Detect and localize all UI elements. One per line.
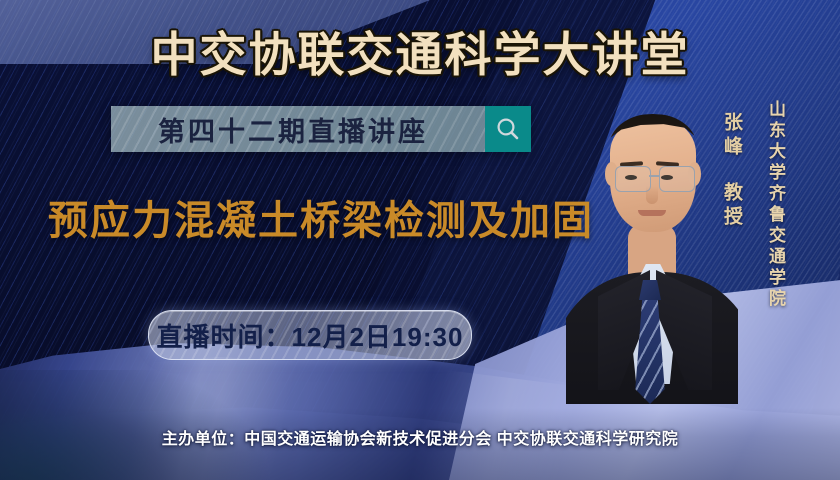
search-icon: [495, 116, 521, 142]
organizer-line: 主办单位：中国交通运输协会新技术促进分会 中交协联交通科学研究院: [0, 425, 840, 449]
portrait-mouth: [638, 210, 666, 216]
livestream-poster: 中交协联交通科学大讲堂 第四十二期直播讲座 预应力混凝土桥梁检测及加固 直播时间…: [0, 0, 840, 480]
live-time-badge: 直播时间：12月2日19:30: [148, 310, 472, 360]
live-time-label: 直播时间：12月2日19:30: [157, 317, 464, 354]
speaker-name: 张峰: [713, 112, 743, 160]
page-title: 中交协联交通科学大讲堂: [0, 16, 840, 85]
glasses-lens-right: [659, 166, 695, 192]
glasses-bridge: [649, 175, 659, 177]
episode-banner: 第四十二期直播讲座: [111, 106, 531, 152]
lecture-title: 预应力混凝土桥梁检测及加固: [48, 188, 594, 246]
speaker-title: 教授: [713, 182, 743, 230]
search-icon-tile[interactable]: [485, 106, 531, 152]
portrait-nose: [646, 186, 658, 204]
episode-label: 第四十二期直播讲座: [111, 106, 485, 152]
speaker-affiliation: 山东大学齐鲁交通学院: [760, 100, 786, 310]
